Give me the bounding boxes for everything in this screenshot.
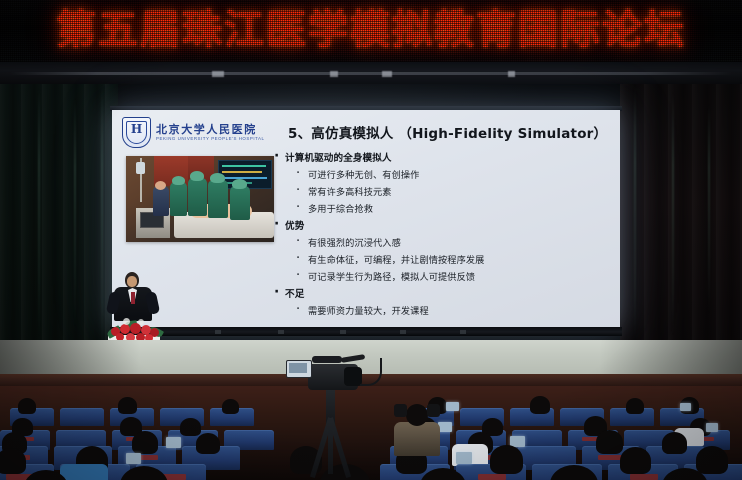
- speaker-face: [127, 276, 137, 287]
- stage-floor-shadow-right: [600, 340, 742, 378]
- screen-mount: [278, 330, 284, 334]
- hospital-logo: H 北京大学人民医院 PEKING UNIVERSITY PEOPLE'S HO…: [122, 117, 265, 148]
- led-banner: 第五届珠江医学模拟教育国际论坛: [0, 0, 742, 62]
- screen-mount: [400, 330, 406, 334]
- photo-clinician-head: [155, 181, 166, 190]
- camera-cable: [360, 358, 382, 386]
- tripod-leg: [328, 418, 333, 474]
- bullet-item: 计算机驱动的全身模拟人: [272, 152, 607, 165]
- banner-light: [212, 71, 224, 77]
- bullet-item: 有很强烈的沉浸代入感: [272, 237, 607, 250]
- bullet-item: 可记录学生行为路径，模拟人可提供反馈: [272, 271, 607, 284]
- photo-clinician-cap: [232, 179, 247, 189]
- banner-light: [508, 71, 515, 77]
- photo-clinician: [230, 186, 250, 220]
- bullet-item: 有生命体征，可编程，并让剧情按程序发展: [272, 254, 607, 267]
- banner-light: [330, 71, 338, 77]
- photo-clinician-cap: [190, 171, 204, 181]
- bullet-item: 常有许多高科技元素: [272, 186, 607, 199]
- slide-bullet-list: 计算机驱动的全身模拟人 可进行多种无创、有创操作 常有许多高科技元素 多用于综合…: [272, 152, 607, 322]
- stills-photographer: [388, 394, 446, 456]
- photo-clinician: [188, 178, 207, 216]
- conference-photo: 第五届珠江医学模拟教育国际论坛 H 北京大学人民医院 PEKING UNIVER…: [0, 0, 742, 480]
- bullet-item: 多用于综合抢救: [272, 203, 607, 216]
- banner-light: [382, 71, 392, 77]
- photographer-head: [406, 404, 428, 426]
- logo-chinese-name: 北京大学人民医院: [156, 123, 265, 136]
- camera-handle: [312, 356, 342, 363]
- logo-english-name: PEKING UNIVERSITY PEOPLE'S HOSPITAL: [156, 136, 265, 142]
- bullet-item: 优势: [272, 220, 607, 233]
- photo-clinician: [208, 180, 228, 218]
- screen-mount: [215, 330, 221, 334]
- logo-text: 北京大学人民医院 PEKING UNIVERSITY PEOPLE'S HOSP…: [156, 123, 265, 142]
- photo-clinician: [153, 186, 169, 216]
- camera-lcd-screen: [286, 360, 312, 378]
- bullet-item: 不足: [272, 288, 607, 301]
- slide-photo: [126, 156, 274, 242]
- stage-floor-shadow-left: [0, 340, 140, 378]
- banner-rail: [10, 72, 732, 75]
- bullet-item: 需要师资力量较大，开发课程: [272, 305, 607, 318]
- crest-letter: H: [123, 123, 150, 136]
- photo-iv-bag: [136, 162, 145, 174]
- speaker-tie: [131, 292, 135, 304]
- crest-icon: H: [122, 117, 151, 148]
- stage-curtain-right: [620, 84, 742, 380]
- bullet-item: 可进行多种无创、有创操作: [272, 169, 607, 182]
- photo-clinician: [170, 182, 187, 216]
- photo-clinician-cap: [172, 176, 185, 185]
- slide-title: 5、高仿真模拟人 （High-Fidelity Simulator）: [288, 122, 607, 142]
- banner-lower-strip: [0, 62, 742, 84]
- photographer-body: [394, 422, 440, 456]
- photographer-camera-icon: [427, 404, 440, 417]
- projection-screen: H 北京大学人民医院 PEKING UNIVERSITY PEOPLE'S HO…: [112, 110, 620, 328]
- photo-clinician-cap: [210, 173, 225, 183]
- screen-mount: [340, 330, 346, 334]
- video-camera-rig: [286, 352, 382, 480]
- flower-arrangement: [105, 318, 163, 342]
- camera-lcd-image: [289, 363, 307, 373]
- screen-mount: [460, 330, 466, 334]
- screen-frame-bottom: [110, 327, 622, 336]
- led-banner-text: 第五届珠江医学模拟教育国际论坛: [0, 4, 742, 56]
- photographer-camera-icon: [394, 404, 407, 417]
